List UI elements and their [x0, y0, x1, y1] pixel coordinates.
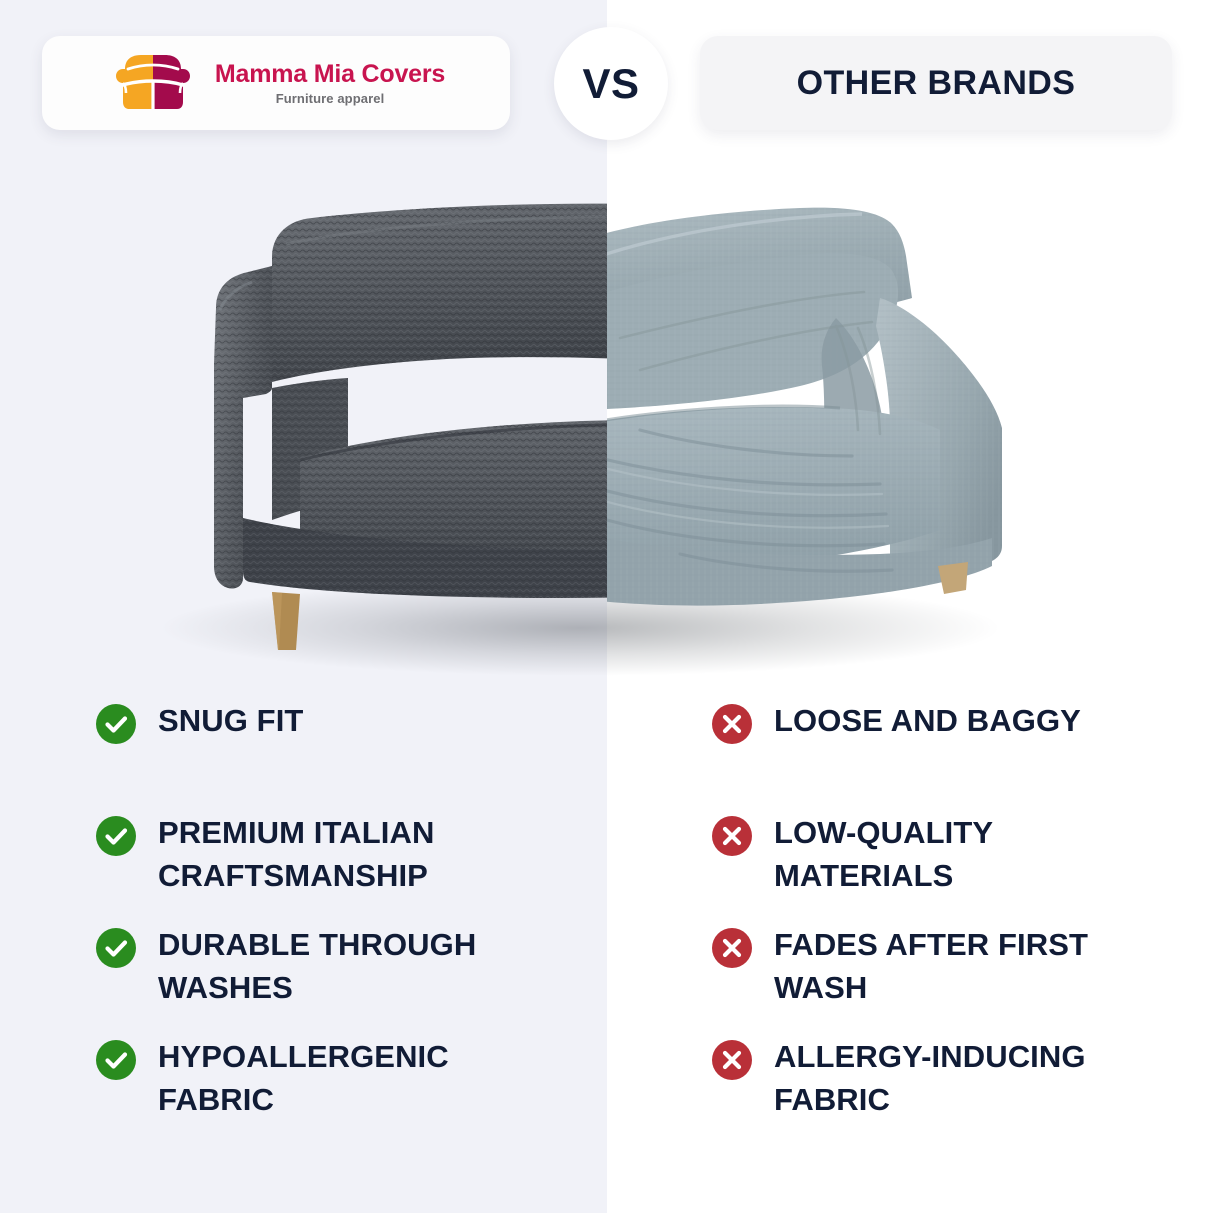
check-circle-icon: [96, 1040, 136, 1080]
sofa-right-light-half: [560, 208, 1002, 606]
other-brands-card[interactable]: OTHER BRANDS: [700, 36, 1172, 130]
list-item-label: SNUG FIT: [158, 700, 303, 743]
feature-comparison: SNUG FIT PREMIUM ITALIAN CRAFTSMANSHIP: [0, 700, 1214, 1200]
x-circle-icon: [712, 928, 752, 968]
vs-badge: VS: [554, 27, 668, 140]
brand-card[interactable]: Mamma Mia Covers Furniture apparel: [42, 36, 510, 130]
sofa-comparison-image: [0, 158, 1214, 694]
list-item[interactable]: DURABLE THROUGH WASHES: [96, 924, 606, 1036]
list-item-label: LOW-QUALITY MATERIALS: [774, 812, 1154, 898]
list-item-label: FADES AFTER FIRST WASH: [774, 924, 1154, 1010]
pros-column: SNUG FIT PREMIUM ITALIAN CRAFTSMANSHIP: [96, 700, 606, 1148]
list-item-label: ALLERGY-INDUCING FABRIC: [774, 1036, 1154, 1122]
cons-column: LOOSE AND BAGGY LOW-QUALITY MATERIALS: [712, 700, 1214, 1148]
other-brands-label: OTHER BRANDS: [797, 64, 1076, 103]
sofa-leg-right: [938, 562, 968, 594]
sofa-icon: [107, 53, 199, 113]
list-item[interactable]: LOOSE AND BAGGY: [712, 700, 1214, 812]
list-item[interactable]: ALLERGY-INDUCING FABRIC: [712, 1036, 1214, 1148]
header: Mamma Mia Covers Furniture apparel VS OT…: [0, 0, 1214, 170]
sofa-illustration: [0, 158, 1214, 694]
check-circle-icon: [96, 928, 136, 968]
x-circle-icon: [712, 1040, 752, 1080]
brand-tagline: Furniture apparel: [276, 92, 385, 106]
check-circle-icon: [96, 704, 136, 744]
list-item[interactable]: PREMIUM ITALIAN CRAFTSMANSHIP: [96, 812, 606, 924]
list-item[interactable]: SNUG FIT: [96, 700, 606, 812]
list-item[interactable]: LOW-QUALITY MATERIALS: [712, 812, 1214, 924]
x-circle-icon: [712, 704, 752, 744]
comparison-infographic: Mamma Mia Covers Furniture apparel VS OT…: [0, 0, 1214, 1213]
list-item[interactable]: FADES AFTER FIRST WASH: [712, 924, 1214, 1036]
check-circle-icon: [96, 816, 136, 856]
list-item-label: PREMIUM ITALIAN CRAFTSMANSHIP: [158, 812, 538, 898]
list-item-label: DURABLE THROUGH WASHES: [158, 924, 538, 1010]
list-item[interactable]: HYPOALLERGENIC FABRIC: [96, 1036, 606, 1148]
list-item-label: HYPOALLERGENIC FABRIC: [158, 1036, 538, 1122]
brand-name: Mamma Mia Covers: [215, 61, 445, 87]
vs-label: VS: [582, 60, 639, 108]
list-item-label: LOOSE AND BAGGY: [774, 700, 1081, 743]
brand-text: Mamma Mia Covers Furniture apparel: [215, 61, 445, 106]
x-circle-icon: [712, 816, 752, 856]
